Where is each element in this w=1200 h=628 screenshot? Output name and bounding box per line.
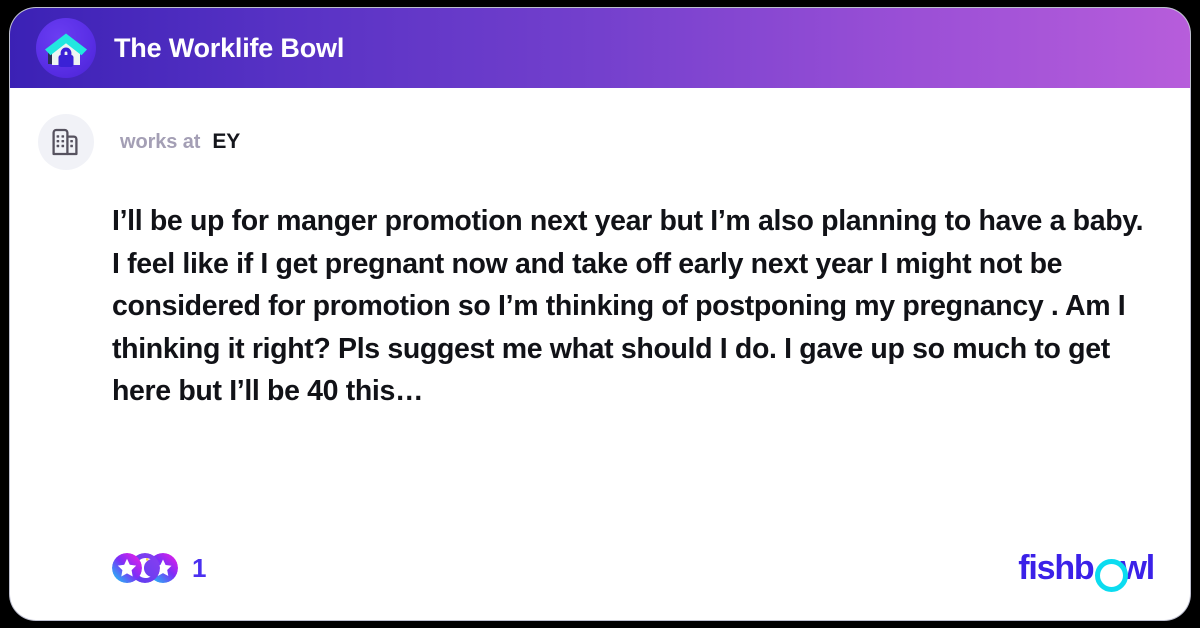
company-name[interactable]: EY	[212, 130, 240, 154]
post-body-text: I’ll be up for manger promotion next yea…	[112, 200, 1152, 413]
page-title: The Worklife Bowl	[114, 33, 344, 64]
author-row: works at EY	[10, 88, 1190, 170]
author-meta: works at EY	[120, 130, 240, 154]
office-building-icon	[49, 125, 83, 159]
fishbowl-logo: fishb wl	[1018, 551, 1154, 585]
post-card: The Worklife Bowl	[10, 8, 1190, 620]
card-body: works at EY I’ll be up for manger promot…	[10, 88, 1190, 620]
reaction-count: 1	[192, 555, 206, 581]
avatar	[38, 114, 94, 170]
house-lock-icon	[36, 18, 96, 78]
reactions-group[interactable]: 1	[112, 553, 206, 583]
card-header: The Worklife Bowl	[10, 8, 1190, 88]
brand-circle-o-icon	[1095, 556, 1120, 581]
reaction-icon-stack[interactable]	[112, 553, 178, 583]
works-at-label: works at	[120, 131, 200, 154]
card-footer: 1 fishb wl	[10, 544, 1190, 592]
star-reaction-icon[interactable]	[112, 553, 142, 583]
brand-text-before: fishb	[1018, 551, 1093, 585]
